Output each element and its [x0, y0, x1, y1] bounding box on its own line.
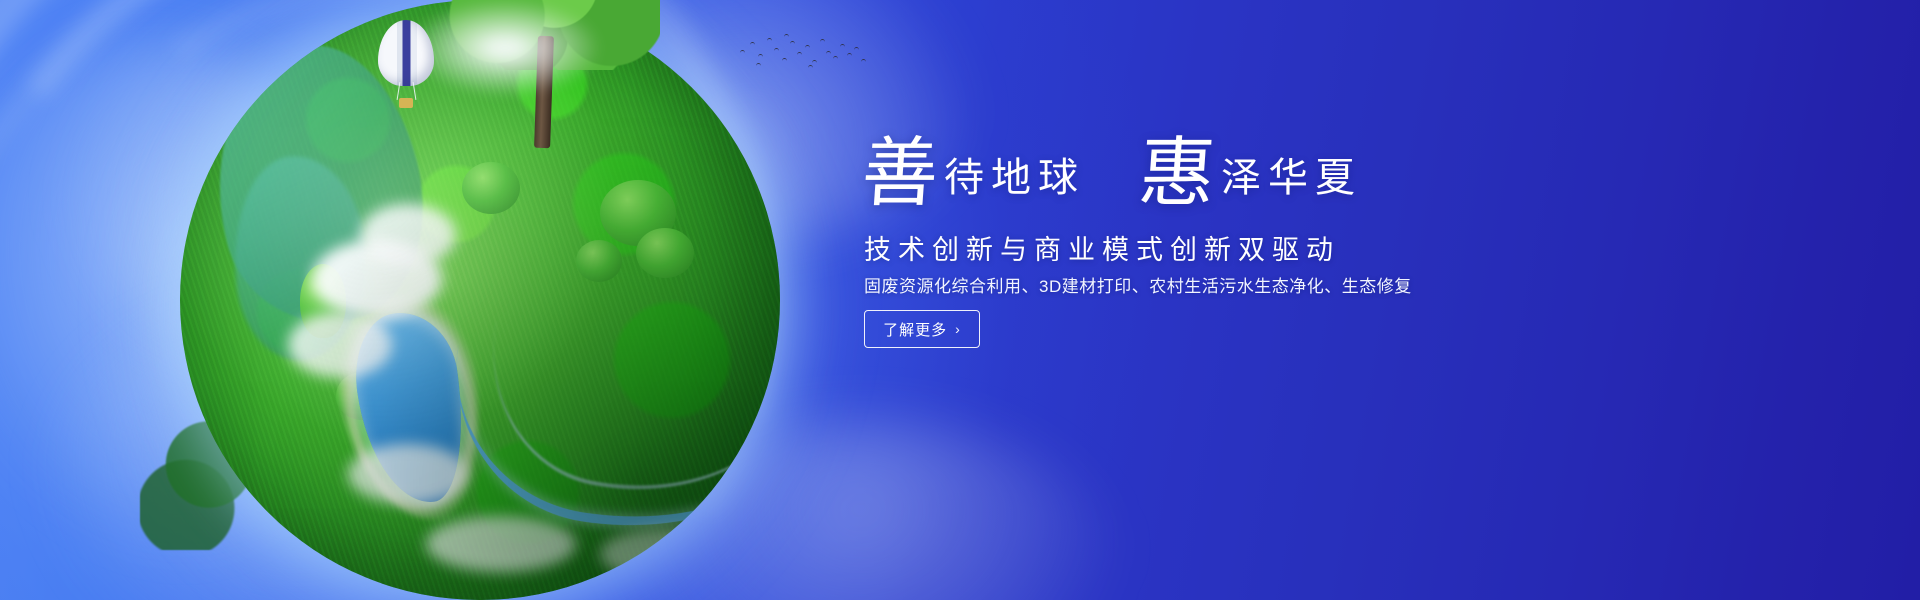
banner-headline: 善 待地球 惠 泽华夏 [862, 136, 1362, 212]
banner-description: 固废资源化综合利用、3D建材打印、农村生活污水生态净化、生态修复 [864, 272, 1412, 297]
headline-phrase-two: 惠 泽华夏 [1139, 136, 1362, 212]
tree-icon [440, 0, 660, 140]
birds-flock-icon [736, 32, 866, 72]
balloon-basket [399, 98, 413, 108]
bird-icon [784, 34, 789, 37]
chevron-right-icon: › [955, 322, 961, 336]
headline-big-char-one: 善 [859, 136, 940, 212]
banner-subtitle: 技术创新与商业模式创新双驱动 [864, 228, 1340, 267]
hot-air-balloon-icon [378, 20, 434, 112]
bird-icon [840, 44, 845, 47]
mist-shape [410, 0, 600, 96]
bird-icon [790, 41, 795, 44]
bird-icon [767, 38, 772, 41]
bird-icon [797, 52, 802, 55]
bird-icon [833, 56, 838, 59]
learn-more-button[interactable]: 了解更多 › [864, 310, 980, 348]
bird-icon [758, 54, 763, 57]
globe-illustration [140, 0, 820, 600]
bird-icon [820, 39, 825, 42]
headline-phrase-one: 善 待地球 [862, 136, 1085, 212]
bird-icon [847, 53, 852, 56]
headline-big-char-two: 惠 [1136, 136, 1217, 212]
banner-content: 善 待地球 惠 泽华夏 技术创新与商业模式创新双驱动 固废资源化综合利用、3D建… [862, 0, 1862, 600]
bird-icon [805, 45, 810, 48]
balloon-envelope [378, 20, 434, 86]
learn-more-label: 了解更多 [883, 319, 947, 340]
headline-small-text-one: 待地球 [944, 148, 1085, 212]
bird-icon [740, 50, 745, 53]
hero-banner: 善 待地球 惠 泽华夏 技术创新与商业模式创新双驱动 固废资源化综合利用、3D建… [0, 0, 1920, 600]
bird-icon [750, 42, 755, 45]
bird-icon [826, 51, 831, 54]
bird-icon [812, 60, 817, 63]
bird-icon [782, 58, 787, 61]
headline-small-text-two: 泽华夏 [1221, 148, 1362, 212]
bird-icon [756, 63, 761, 66]
bird-icon [854, 47, 859, 50]
bird-icon [774, 48, 779, 51]
bird-icon [808, 65, 813, 68]
